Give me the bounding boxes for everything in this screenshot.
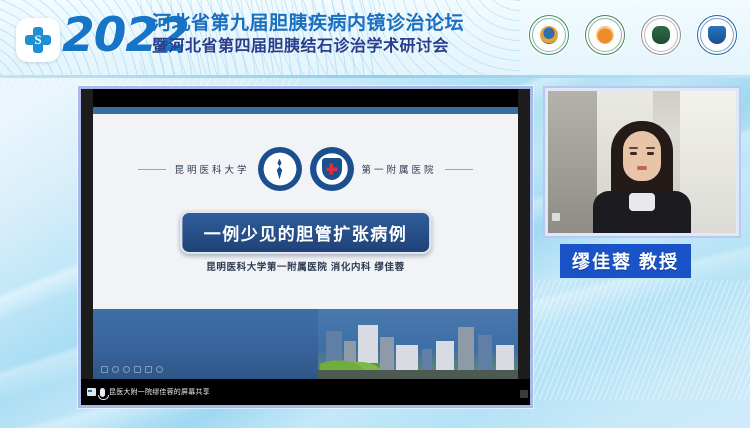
toolbar-icon-6[interactable] <box>156 366 163 373</box>
building <box>422 349 432 371</box>
building <box>396 345 418 371</box>
video-pin-icon <box>552 213 560 221</box>
building <box>458 327 474 371</box>
presentation-slide: 昆明医科大学 第一附属医院 一例少见的胆管扩张病例 昆明医科大学第一附属医院 消… <box>93 107 518 379</box>
presenter-face <box>623 131 661 181</box>
slide-title-box: 一例少见的胆管扩张病例 <box>180 211 432 254</box>
org-logo-ring-inner <box>588 18 622 52</box>
org-logo-1-icon <box>528 14 570 56</box>
org-logo-ring-inner <box>532 18 566 52</box>
scroll-corner[interactable] <box>520 390 528 398</box>
toolbar-icon-3[interactable] <box>123 366 130 373</box>
hospital-seal-emblem <box>322 158 342 180</box>
slide-rule-left <box>138 169 166 170</box>
screen-share-viewport: 昆明医科大学 第一附属医院 一例少见的胆管扩张病例 昆明医科大学第一附属医院 消… <box>81 89 530 405</box>
organizer-logo-group <box>528 14 738 56</box>
presenter-collar <box>629 193 655 211</box>
hospital-cross-seal-icon <box>310 147 354 191</box>
presenter-brow-left <box>629 147 638 149</box>
slide-title: 一例少见的胆管扩张病例 <box>204 220 408 245</box>
presenter-mouth <box>637 166 647 170</box>
university-seal-emblem <box>271 159 288 180</box>
toolbar-icon-4[interactable] <box>134 366 141 373</box>
speaker-name-banner: 缪佳蓉 教授 <box>560 244 691 278</box>
toolbar-icon-1[interactable] <box>101 366 108 373</box>
org-logo-ring-inner <box>644 18 678 52</box>
building <box>436 341 454 371</box>
campus-ground <box>318 370 518 379</box>
toolbar-icon-5[interactable] <box>145 366 152 373</box>
event-header-banner: S 2022 河北省第九届胆胰疾病内镜诊治论坛 暨河北省第四届胆胰结石诊治学术研… <box>0 0 750 78</box>
microphone-icon <box>100 388 105 397</box>
slide-editor-toolbar[interactable] <box>101 366 163 373</box>
org-logo-3-icon <box>640 14 682 56</box>
medical-cross-icon: S <box>25 27 51 53</box>
event-title-sub: 暨河北省第四届胆胰结石诊治学术研讨会 <box>152 36 464 58</box>
presenter-eye-left <box>630 152 637 155</box>
screen-letterbox-left <box>81 89 93 405</box>
screen-share-status-bar: 昆医大附一院缪佳蓉的屏幕共享 <box>81 379 530 405</box>
presenter-eye-right <box>647 152 654 155</box>
slide-top-accent-bar <box>93 107 518 114</box>
campus-skyline <box>318 309 518 379</box>
screen-share-status-text: 昆医大附一院缪佳蓉的屏幕共享 <box>109 387 210 397</box>
slide-subtitle: 昆明医科大学第一附属医院 消化内科 缪佳蓉 <box>206 259 404 273</box>
university-seal-icon <box>258 147 302 191</box>
slide-university-name: 昆明医科大学 <box>174 162 249 176</box>
org-logo-2-icon <box>584 14 626 56</box>
cross-inner-glyph: S <box>32 32 44 48</box>
presenter-figure <box>586 115 698 233</box>
event-title-stack: 河北省第九届胆胰疾病内镜诊治论坛 暨河北省第四届胆胰结石诊治学术研讨会 <box>152 12 464 58</box>
event-title-main: 河北省第九届胆胰疾病内镜诊治论坛 <box>152 12 464 36</box>
toolbar-icon-2[interactable] <box>112 366 119 373</box>
screen-share-icon <box>87 388 96 396</box>
slide-rule-right <box>445 169 473 170</box>
screen-letterbox-right <box>518 89 530 405</box>
screen-share-panel[interactable]: 昆明医科大学 第一附属医院 一例少见的胆管扩张病例 昆明医科大学第一附属医院 消… <box>78 86 533 408</box>
screen-letterbox-top <box>81 89 530 107</box>
slide-hospital-name: 第一附属医院 <box>362 162 437 176</box>
building <box>478 335 492 371</box>
building <box>380 337 394 371</box>
building <box>496 345 514 371</box>
header-divider <box>0 75 750 78</box>
slide-campus-photo <box>93 309 518 379</box>
slide-institution-header: 昆明医科大学 第一附属医院 <box>93 143 518 195</box>
org-logo-ring-inner <box>700 18 734 52</box>
speaker-name-title: 缪佳蓉 教授 <box>572 248 679 274</box>
event-logo-badge: S <box>16 18 60 62</box>
presenter-video-feed <box>548 91 736 233</box>
presenter-video-panel[interactable] <box>543 86 741 238</box>
presenter-brow-right <box>646 147 655 149</box>
org-logo-4-icon <box>696 14 738 56</box>
